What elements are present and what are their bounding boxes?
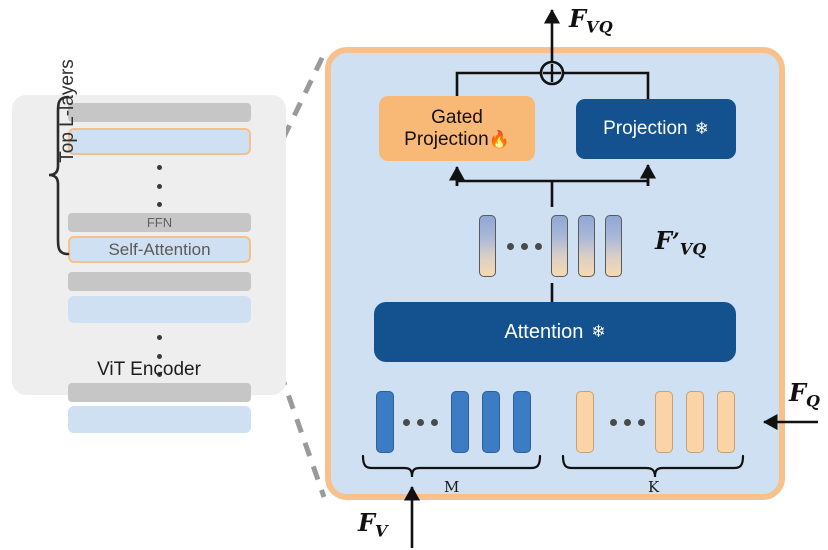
output-label-fvq: FVQ bbox=[569, 4, 613, 37]
query-input-label-fq: FQ bbox=[789, 378, 820, 411]
fused-tokens-label-fprime-vq: F’VQ bbox=[655, 226, 707, 259]
module-wiring-layer bbox=[0, 0, 828, 550]
visual-tokens-brace bbox=[363, 456, 540, 477]
query-tokens-brace bbox=[563, 456, 743, 477]
visual-input-label-fv: FV bbox=[358, 508, 388, 541]
figure-canvas: FFN Self-Attention ViT Encoder Top L-lay… bbox=[0, 0, 828, 550]
